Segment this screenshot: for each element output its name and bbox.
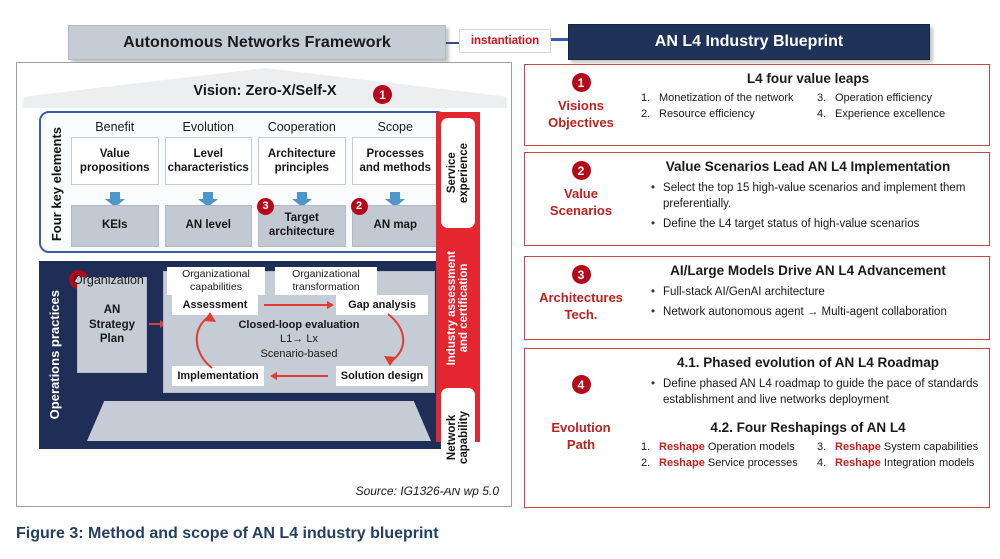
bullet-icon: • [651,284,655,300]
list-item: 4.Reshape Integration models [817,457,979,469]
organizational-transformation-box: Organizational transformation [275,267,377,295]
top-box-text: Value propositions [80,147,150,176]
blueprint-section-evolution-path: 4 Evolution Path 4.1. Phased evolution o… [524,348,990,508]
framework-banner-label: Autonomous Networks Framework [123,34,391,52]
section-label-visions: Visions Objectives [548,98,614,132]
column-scope: Scope Processes and methods 2 AN map [352,117,440,247]
item-text: Service processes [708,457,798,469]
item-text: Define phased AN L4 roadmap to guide the… [663,376,979,408]
section-left-visions: 1 Visions Objectives [525,65,637,145]
journey-arrow-solution-to-implementation-icon [276,375,328,377]
four-key-elements-block: Four key elements Benefit Value proposit… [39,111,447,253]
item-text: Full-stack AI/GenAI architecture [663,284,825,300]
bullet-icon: • [651,304,655,320]
badge-1: 1 [373,85,392,104]
organization-trapezoid [87,401,431,441]
journey-step-gap-analysis: Gap analysis [336,295,428,315]
bottom-box-text: Target architecture [269,212,335,240]
item-number: 2. [641,457,653,469]
section-label-value-scenarios: Value Scenarios [550,186,612,220]
item-text: Integration models [884,457,975,469]
item-text: Experience excellence [835,108,945,120]
top-box-text: Processes and methods [359,147,431,176]
section-left-evolution: 4 Evolution Path [525,349,637,507]
vision-label: Vision: Zero-X/Self-X [23,83,507,99]
column-top-box: Level characteristics [165,137,253,185]
value-scenarios-bullets: •Select the top 15 high-value scenarios … [637,180,979,232]
framework-banner: Autonomous Networks Framework [68,25,446,60]
column-bottom-box: 3 Target architecture [258,205,346,247]
bottom-box-text: KEIs [102,219,128,233]
four-key-side-text: Four key elements [49,127,64,241]
blueprint-section-architectures-tech: 3 Architectures Tech. AI/Large Models Dr… [524,256,990,340]
item-number: 4. [817,457,829,469]
org-box-2-text: Organizational transformation [292,268,360,294]
item-accent: Reshape [835,457,881,469]
list-item: 1.Monetization of the network [641,92,803,104]
column-header: Evolution [165,117,253,137]
journey-step-assessment: Assessment [172,295,258,315]
service-experience-box: Service experience [441,118,475,228]
down-arrow-icon [165,185,253,205]
item-accent: Reshape [659,457,705,469]
industry-assessment-label: Industry assessment and certification [446,251,470,365]
industry-assessment-bar: Service experience Industry assessment a… [436,112,480,442]
reshapings-list: 1.Reshape Operation models 3.Reshape Sys… [637,441,979,469]
item-text: System capabilities [884,441,978,453]
column-bottom-box: KEIs [71,205,159,247]
organization-label: Organization [73,273,144,287]
badge-4-right: 4 [572,375,591,394]
ops-side-text: Operations practices [47,290,62,419]
item-number: 3. [817,92,829,104]
levels-label: L1→ Lx [164,333,434,345]
badge-2: 2 [351,198,368,215]
architectures-bullets: •Full-stack AI/GenAI architecture •Netwo… [637,284,979,320]
organizational-capabilities-box: Organizational capabilities [167,267,265,295]
list-item: •Define phased AN L4 roadmap to guide th… [651,376,979,408]
blueprint-section-visions-objectives: 1 Visions Objectives L4 four value leaps… [524,64,990,146]
item-accent: Reshape [659,441,705,453]
operations-practices-side-label: Operations practices [41,261,67,449]
journey-step-solution-design: Solution design [336,366,428,386]
list-item: 2.Resource efficiency [641,108,803,120]
blueprint-banner-label: AN L4 Industry Blueprint [655,33,843,51]
industry-assessment-label-wrap: Industry assessment and certification [441,234,475,382]
section-content-architectures: AI/Large Models Drive AN L4 Advancement … [637,257,989,339]
item-number: 1. [641,441,653,453]
an-strategy-plan-label: AN Strategy Plan [89,303,135,348]
section-title-reshapings: 4.2. Four Reshapings of AN L4 [637,420,979,435]
section-left-architectures: 3 Architectures Tech. [525,257,637,339]
column-cooperation: Cooperation Architecture principles 3 Ta… [258,117,346,247]
section-content-value-scenarios: Value Scenarios Lead AN L4 Implementatio… [637,153,989,245]
an-strategy-plan-box: AN Strategy Plan [77,277,147,373]
column-benefit: Benefit Value propositions KEIs [71,117,159,247]
item-number: 1. [641,92,653,104]
column-header: Scope [352,117,440,137]
column-evolution: Evolution Level characteristics AN level [165,117,253,247]
column-header: Benefit [71,117,159,137]
instantiation-label-box: instantiation [459,29,551,53]
roadmap-bullets: •Define phased AN L4 roadmap to guide th… [637,376,979,408]
section-left-value-scenarios: 2 Value Scenarios [525,153,637,245]
service-experience-label: Service experience [446,143,470,203]
top-box-text: Architecture principles [268,147,336,176]
item-number: 2. [641,108,653,120]
list-item: 2.Reshape Service processes [641,457,803,469]
blueprint-section-value-scenarios: 2 Value Scenarios Value Scenarios Lead A… [524,152,990,246]
list-item: 3.Reshape System capabilities [817,441,979,453]
bullet-icon: • [651,180,655,212]
scenario-based-label: Scenario-based [164,348,434,360]
badge-3-right: 3 [572,265,591,284]
item-accent: Reshape [835,441,881,453]
list-item: •Network autonomous agent → Multi-agent … [651,304,979,320]
item-text: Resource efficiency [659,108,755,120]
instantiation-label: instantiation [471,35,539,47]
badge-2-right: 2 [572,161,591,180]
item-text: Operation efficiency [835,92,932,104]
list-item: 1.Reshape Operation models [641,441,803,453]
journey-step-implementation: Implementation [172,366,264,386]
item-number: 4. [817,108,829,120]
column-bottom-box: AN level [165,205,253,247]
section-label-evolution: Evolution Path [551,420,610,454]
item-text: Define the L4 target status of high-valu… [663,216,919,232]
blueprint-banner: AN L4 Industry Blueprint [568,24,930,60]
badge-1-right: 1 [572,73,591,92]
strategy-to-journey-arrow-icon [149,323,161,325]
four-key-columns: Benefit Value propositions KEIs Evolutio… [71,117,439,247]
section-title-architectures: AI/Large Models Drive AN L4 Advancement [637,263,979,278]
section-title-visions: L4 four value leaps [637,71,979,86]
item-text: Select the top 15 high-value scenarios a… [663,180,979,212]
bullet-icon: • [651,216,655,232]
column-top-box: Architecture principles [258,137,346,185]
list-item: •Select the top 15 high-value scenarios … [651,180,979,212]
bullet-icon: • [651,376,655,408]
item-text: Operation models [708,441,795,453]
value-leaps-list: 1.Monetization of the network 3.Operatio… [637,92,979,120]
list-item: 3.Operation efficiency [817,92,979,104]
item-text: Monetization of the network [659,92,794,104]
section-title-roadmap: 4.1. Phased evolution of AN L4 Roadmap [637,355,979,370]
list-item: •Full-stack AI/GenAI architecture [651,284,979,300]
column-bottom-box: 2 AN map [352,205,440,247]
bottom-box-text: AN level [186,219,231,233]
top-box-text: Level characteristics [168,147,249,176]
badge-3: 3 [257,198,274,215]
section-title-value-scenarios: Value Scenarios Lead AN L4 Implementatio… [637,159,979,174]
journey-arrow-assessment-to-gap-icon [264,304,328,306]
column-header: Cooperation [258,117,346,137]
section-content-visions: L4 four value leaps 1.Monetization of th… [637,65,989,145]
vision-roof-banner: Vision: Zero-X/Self-X 1 [23,68,507,108]
item-text: Network autonomous agent → Multi-agent c… [663,304,947,320]
operations-practices-block: Operations practices 4 AN Strategy Plan … [39,261,447,449]
network-capability-label: Network capability [446,411,470,464]
org-box-1-text: Organizational capabilities [182,268,250,294]
network-capability-box: Network capability [441,388,475,488]
list-item: •Define the L4 target status of high-val… [651,216,979,232]
section-content-evolution: 4.1. Phased evolution of AN L4 Roadmap •… [637,349,989,507]
list-item: 4.Experience excellence [817,108,979,120]
banner-connector-line [446,42,460,44]
section-label-architectures: Architectures Tech. [539,290,623,324]
source-note: Source: IG1326-AN wp 5.0 [356,484,499,498]
column-top-box: Value propositions [71,137,159,185]
bottom-box-text: AN map [374,219,417,233]
item-number: 3. [817,441,829,453]
figure-caption: Figure 3: Method and scope of AN L4 indu… [16,525,439,543]
closed-loop-evaluation-label: Closed-loop evaluation [164,319,434,331]
column-top-box: Processes and methods [352,137,440,185]
down-arrow-icon [71,185,159,205]
four-key-elements-side-label: Four key elements [43,117,69,251]
